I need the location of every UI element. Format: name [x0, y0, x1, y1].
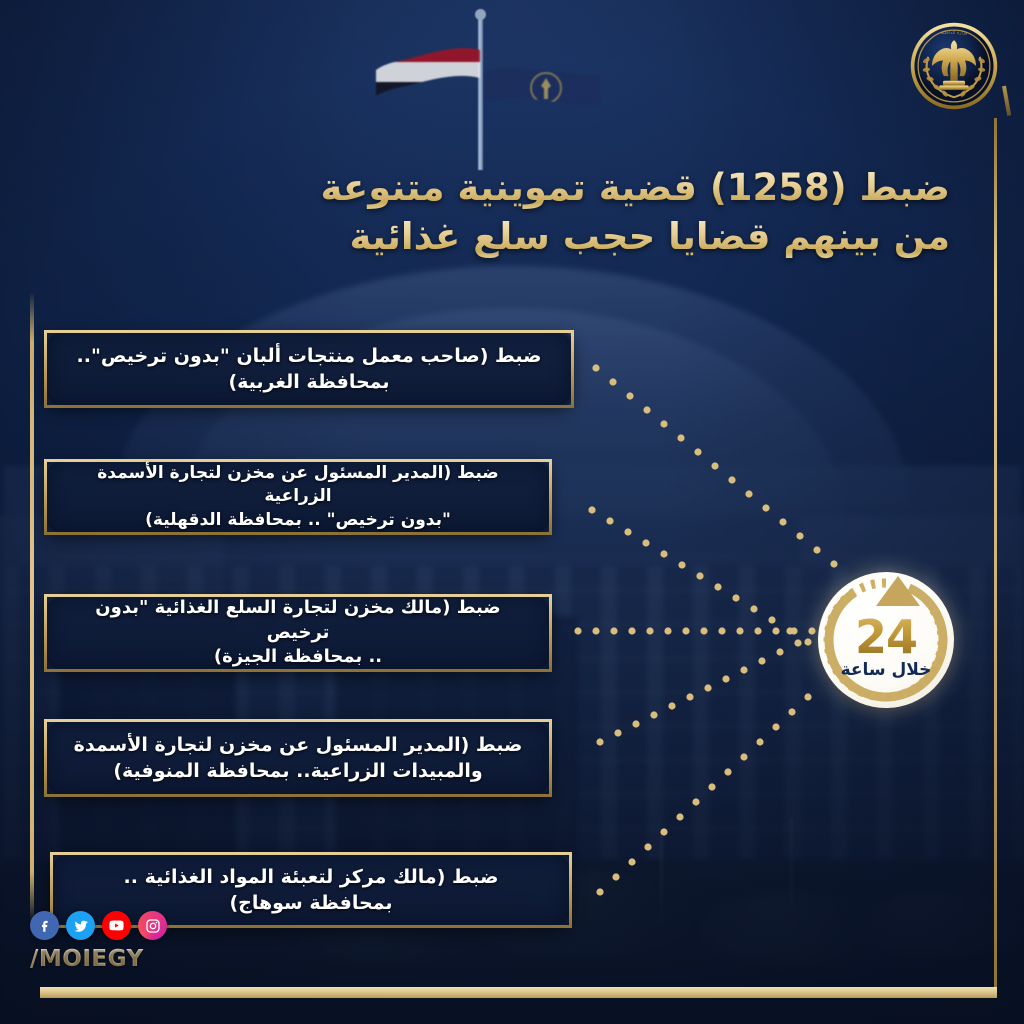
badge-number: 24	[812, 610, 960, 664]
page-title-line-2: من بينهم قضايا حجب سلع غذائية	[290, 213, 950, 262]
infographic-canvas: وزارة الداخلية ضبط (1258) قضية تموينية م…	[0, 0, 1024, 1024]
facebook-icon[interactable]	[30, 911, 59, 940]
case-card-text: ضبط (صاحب معمل منتجات ألبان "بدون ترخيص"…	[77, 343, 542, 395]
case-card-text: ضبط (المدير المسئول عن مخزن لتجارة الأسم…	[63, 462, 533, 532]
twitter-icon[interactable]	[66, 911, 95, 940]
timeline-rail	[30, 292, 34, 922]
case-card-text: ضبط (مالك مخزن لتجارة السلع الغذائية "بد…	[63, 596, 533, 670]
svg-text:وزارة الداخلية: وزارة الداخلية	[941, 31, 967, 36]
case-card-gharbia[interactable]: ضبط (صاحب معمل منتجات ألبان "بدون ترخيص"…	[44, 330, 574, 408]
case-card-line-2: بمحافظة الغربية)	[77, 369, 542, 395]
case-card-dakahlia[interactable]: ضبط (المدير المسئول عن مخزن لتجارة الأسم…	[44, 459, 552, 535]
social-footer: /MOIEGY	[30, 911, 167, 972]
case-card-line-2: بمحافظة سوهاج)	[124, 890, 499, 916]
case-card-text: ضبط (المدير المسئول عن مخزن لتجارة الأسم…	[74, 732, 523, 784]
case-card-line-1: ضبط (مالك مركز لتعبئة المواد الغذائية ..	[124, 864, 499, 890]
case-card-line-1: ضبط (صاحب معمل منتجات ألبان "بدون ترخيص"…	[77, 343, 542, 369]
frame-bottom-bar	[40, 987, 997, 998]
egypt-flag	[376, 46, 480, 104]
duration-badge[interactable]: 24 خلال ساعة	[812, 566, 960, 714]
case-card-line-1: ضبط (المدير المسئول عن مخزن لتجارة الأسم…	[74, 732, 523, 758]
case-card-line-1: ضبط (مالك مخزن لتجارة السلع الغذائية "بد…	[63, 596, 533, 646]
moi-eagle-emblem: وزارة الداخلية	[908, 20, 1000, 112]
frame-right-edge	[994, 118, 997, 998]
ministry-of-interior-flag	[484, 62, 600, 120]
youtube-icon[interactable]	[102, 911, 131, 940]
page-title-line-1: ضبط (1258) قضية تموينية متنوعة	[290, 164, 950, 213]
social-icon-row	[30, 911, 167, 940]
case-card-line-2: .. بمحافظة الجيزة)	[63, 645, 533, 670]
case-card-giza[interactable]: ضبط (مالك مخزن لتجارة السلع الغذائية "بد…	[44, 594, 552, 672]
case-card-menoufia[interactable]: ضبط (المدير المسئول عن مخزن لتجارة الأسم…	[44, 719, 552, 797]
case-card-line-2: "بدون ترخيص" .. بمحافظة الدقهلية)	[63, 509, 533, 532]
page-title: ضبط (1258) قضية تموينية متنوعة من بينهم …	[290, 164, 950, 262]
instagram-icon[interactable]	[138, 911, 167, 940]
case-card-line-1: ضبط (المدير المسئول عن مخزن لتجارة الأسم…	[63, 462, 533, 509]
social-handle: /MOIEGY	[30, 946, 167, 972]
badge-label: خلال ساعة	[812, 660, 960, 680]
case-card-text: ضبط (مالك مركز لتعبئة المواد الغذائية ..…	[124, 864, 499, 916]
case-card-line-2: والمبيدات الزراعية.. بمحافظة المنوفية)	[74, 758, 523, 784]
